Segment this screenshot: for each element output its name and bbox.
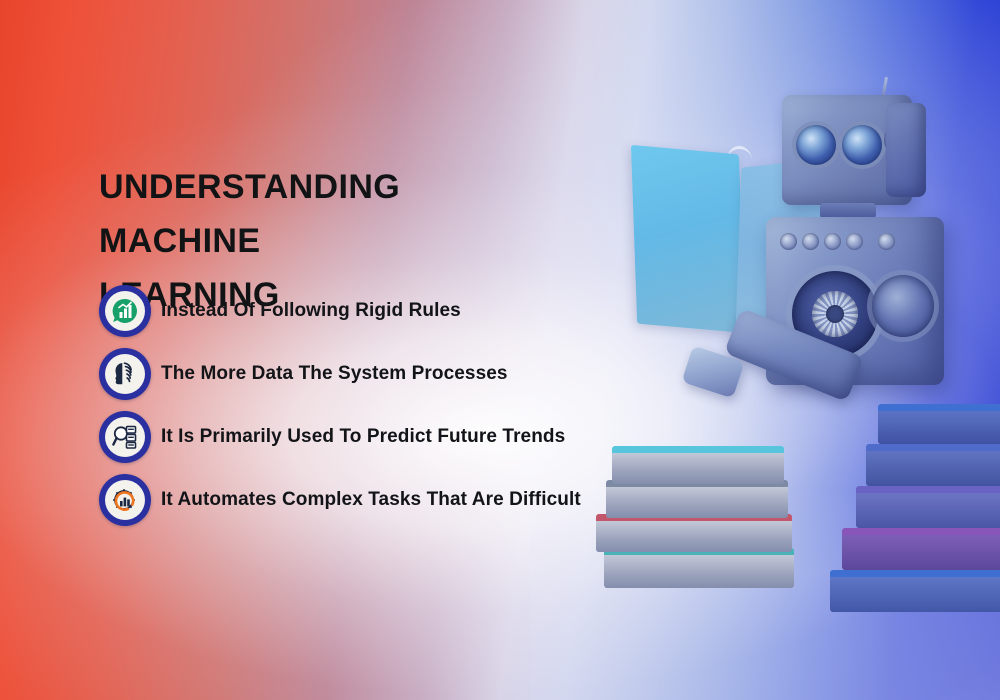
infographic-banner: UNDERSTANDING MACHINE LEARNING [0,0,1000,700]
open-book-illustration [630,140,860,350]
robot-chest-gear [812,291,858,337]
robot-knob [846,233,863,250]
book [856,486,1000,528]
book-stack-left [590,440,805,595]
robot-illustration [760,95,970,455]
robot-knob [802,233,819,250]
content-column: UNDERSTANDING MACHINE LEARNING [0,0,620,700]
list-item-label: It Automates Complex Tasks That Are Diff… [161,474,581,526]
book [878,404,1000,444]
robot-chest-panel [792,271,878,357]
book-cover [606,480,788,489]
robot-side-dial [872,275,934,337]
book [604,548,794,588]
book-pages [612,453,784,484]
book-cover [878,404,1000,413]
brain-head-profile-icon [99,348,151,400]
robot-neck [820,203,876,219]
book [866,444,1000,486]
robot-hand [681,346,744,399]
book-pages [606,487,788,518]
book [612,446,784,484]
icon-disc [105,354,145,394]
list-item: It Automates Complex Tasks That Are Diff… [99,474,619,537]
icon-disc [105,480,145,520]
book-pages [830,577,1000,612]
book [842,528,1000,570]
robot-knob [878,233,895,250]
robot-head [782,95,912,205]
robot-eye-left [796,125,836,165]
book-pages [596,521,792,552]
title-line-1: UNDERSTANDING MACHINE [99,160,569,268]
list-item: Instead Of Following Rigid Rules [99,285,619,348]
book-stack-right [830,400,1000,615]
robot-knob [780,233,797,250]
book-pages [866,451,1000,486]
book-cover [612,446,784,455]
robot-antenna [879,77,888,111]
icon-disc [105,417,145,457]
book-cover [866,444,1000,453]
book [606,480,788,518]
icon-disc [105,291,145,331]
list-item-label: It Is Primarily Used To Predict Future T… [161,411,565,463]
book-pages [604,555,794,588]
list-item-label: Instead Of Following Rigid Rules [161,285,461,337]
book-cover [856,486,1000,495]
robot-eye-right [842,125,882,165]
feature-list: Instead Of Following Rigid Rules [99,285,619,537]
robot-head-dial [884,123,918,157]
magnifier-checklist-icon [99,411,151,463]
robot-knob [824,233,841,250]
book-cover [596,514,792,523]
book-spine [725,145,752,166]
gear-bar-chart-icon [99,474,151,526]
book-cover [842,528,1000,537]
book-page-left [631,145,745,333]
book-cover [830,570,1000,579]
robot-arm [724,308,864,402]
growth-chart-bubble-icon [99,285,151,337]
book [830,570,1000,612]
list-item: It Is Primarily Used To Predict Future T… [99,411,619,474]
book-cover [604,548,794,557]
book-pages [842,535,1000,570]
book-pages [856,493,1000,528]
list-item: The More Data The System Processes [99,348,619,411]
book [596,514,792,552]
book-page-right [735,155,857,354]
book-pages [878,411,1000,444]
robot-body [766,217,944,385]
list-item-label: The More Data The System Processes [161,348,508,400]
